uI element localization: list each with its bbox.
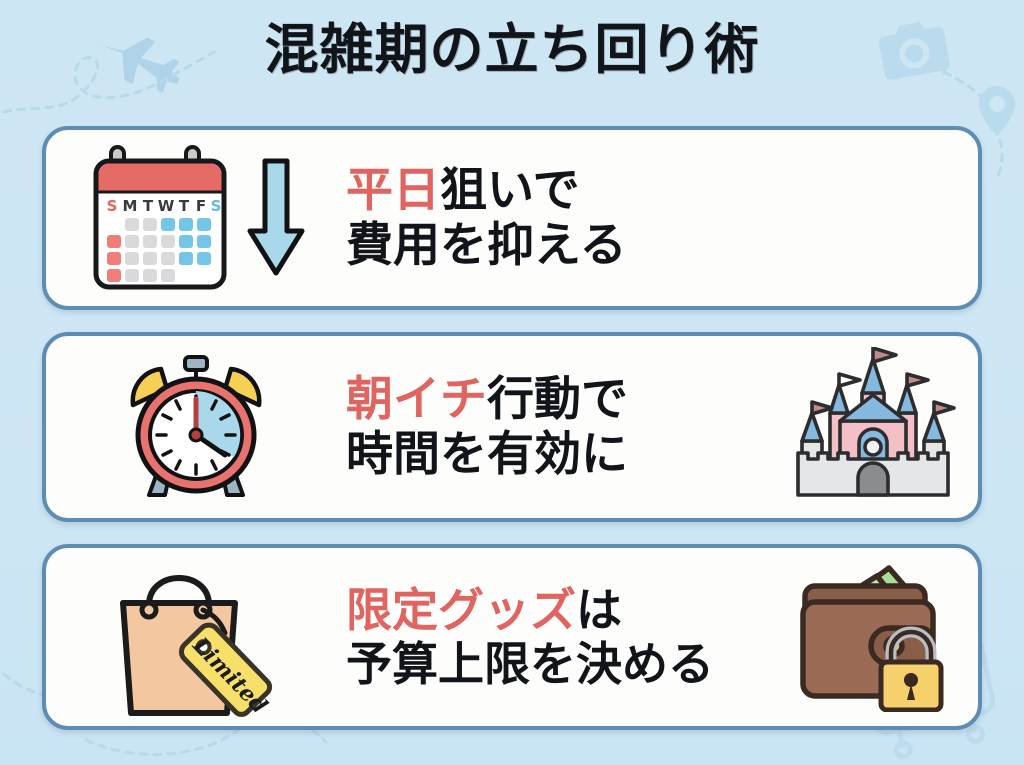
card-2-text: 朝イチ行動で 時間を有効に (346, 372, 768, 483)
card-2-icon-group (46, 336, 346, 518)
card-3-icon-group: Limited (46, 548, 346, 726)
wallet-icon (793, 562, 953, 712)
calendar-header-sat: S (211, 197, 222, 215)
shopping-bag-icon: Limited (103, 553, 289, 721)
card-2-line-2: 時間を有効に (346, 427, 768, 482)
card-1-line-1: 平日狙いで (346, 163, 858, 218)
card-1-highlight: 平日 (346, 163, 440, 218)
card-3-line-1: 限定グッズは (346, 583, 768, 637)
calendar-icon: S M T W T F S (85, 145, 235, 291)
tip-card-limited-goods: Limited 限定グッズは 予算上限を決める (42, 544, 982, 730)
card-2-line-1-rest: 行動で (487, 372, 628, 427)
card-1-text: 平日狙いで 費用を抑える (346, 163, 858, 274)
card-2-right-slot (768, 336, 978, 518)
card-3-right-slot (768, 548, 978, 726)
castle-icon (778, 347, 968, 507)
card-1-line-2: 費用を抑える (346, 218, 858, 273)
calendar-header-mon: M (123, 197, 138, 215)
alarm-clock-icon (121, 351, 271, 503)
down-arrow-icon (245, 157, 307, 279)
calendar-header-tue: T (143, 197, 154, 215)
calendar-header-fri: F (196, 197, 206, 215)
dashed-trail-line-pin (996, 140, 1002, 180)
dashed-trail-line-right (944, 72, 996, 118)
card-3-line-1-rest: は (576, 583, 622, 637)
card-3-line-2: 予算上限を決める (346, 637, 768, 691)
card-1-right-slot (858, 130, 978, 306)
card-2-line-1: 朝イチ行動で (346, 372, 768, 427)
tip-card-weekday: S M T W T F S (42, 126, 982, 310)
page-title: 混雑期の立ち回り術 (0, 22, 1024, 79)
map-pin-icon (979, 86, 1015, 136)
card-3-text: 限定グッズは 予算上限を決める (346, 583, 768, 692)
card-2-highlight: 朝イチ (346, 372, 487, 427)
card-3-highlight: 限定グッズ (346, 583, 576, 637)
calendar-header-sun: S (107, 197, 118, 215)
card-1-icon-group: S M T W T F S (46, 130, 346, 306)
calendar-header-wed: W (158, 197, 175, 215)
tip-card-early-morning: 朝イチ行動で 時間を有効に (42, 332, 982, 522)
card-1-line-1-rest: 狙いで (440, 163, 580, 218)
calendar-header-thu: T (179, 197, 190, 215)
infographic-canvas: 混雑期の立ち回り術 S M T W T (0, 0, 1024, 765)
